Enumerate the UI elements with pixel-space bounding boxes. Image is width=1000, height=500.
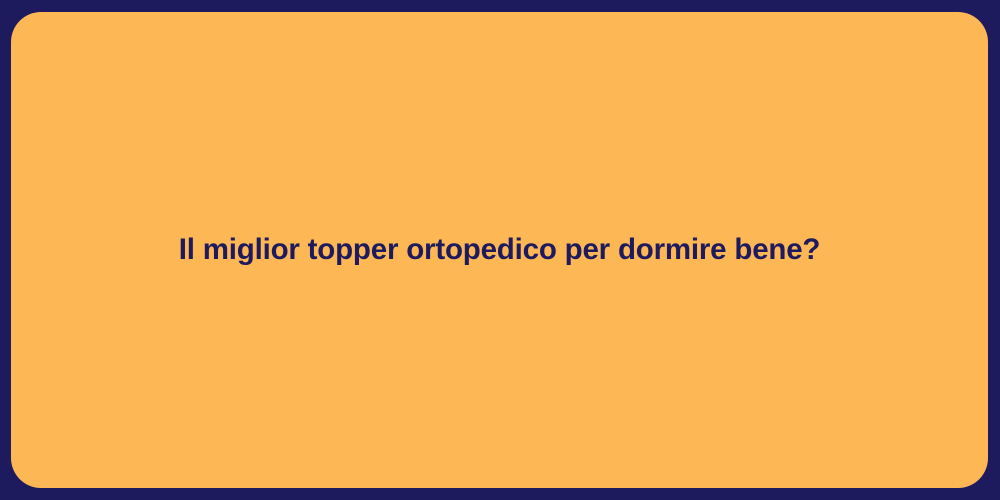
- page-frame: Il miglior topper ortopedico per dormire…: [0, 0, 1000, 500]
- headline-card: Il miglior topper ortopedico per dormire…: [11, 12, 988, 488]
- page-title: Il miglior topper ortopedico per dormire…: [139, 233, 861, 267]
